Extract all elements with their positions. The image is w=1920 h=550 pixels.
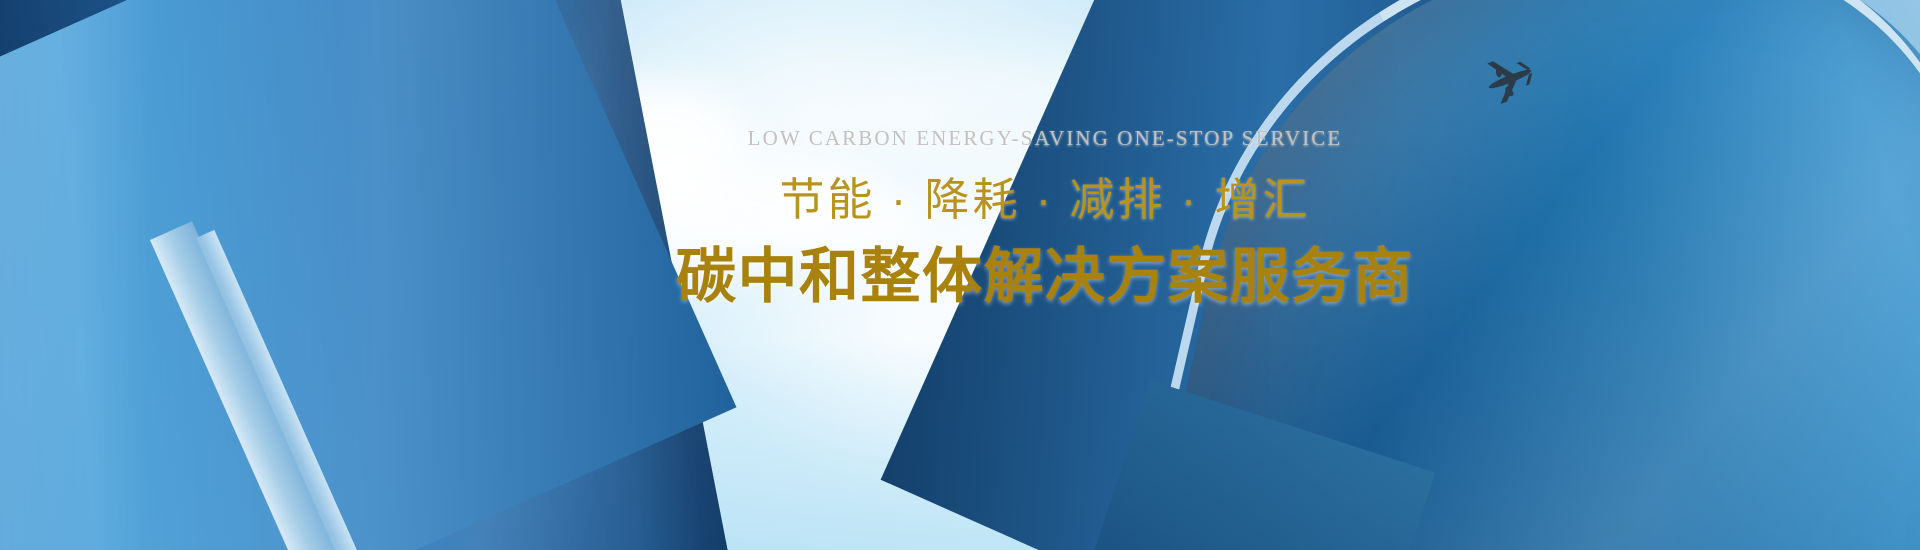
banner-text-block: LOW CARBON ENERGY-SAVING ONE-STOP SERVIC… <box>0 0 1920 550</box>
hero-banner: LOW CARBON ENERGY-SAVING ONE-STOP SERVIC… <box>0 0 1920 550</box>
banner-subtitle: 节能 · 降耗 · 减排 · 增汇 <box>780 174 1311 226</box>
banner-headline: 碳中和整体解决方案服务商 <box>676 242 1414 311</box>
banner-eyebrow-text: LOW CARBON ENERGY-SAVING ONE-STOP SERVIC… <box>748 128 1343 149</box>
